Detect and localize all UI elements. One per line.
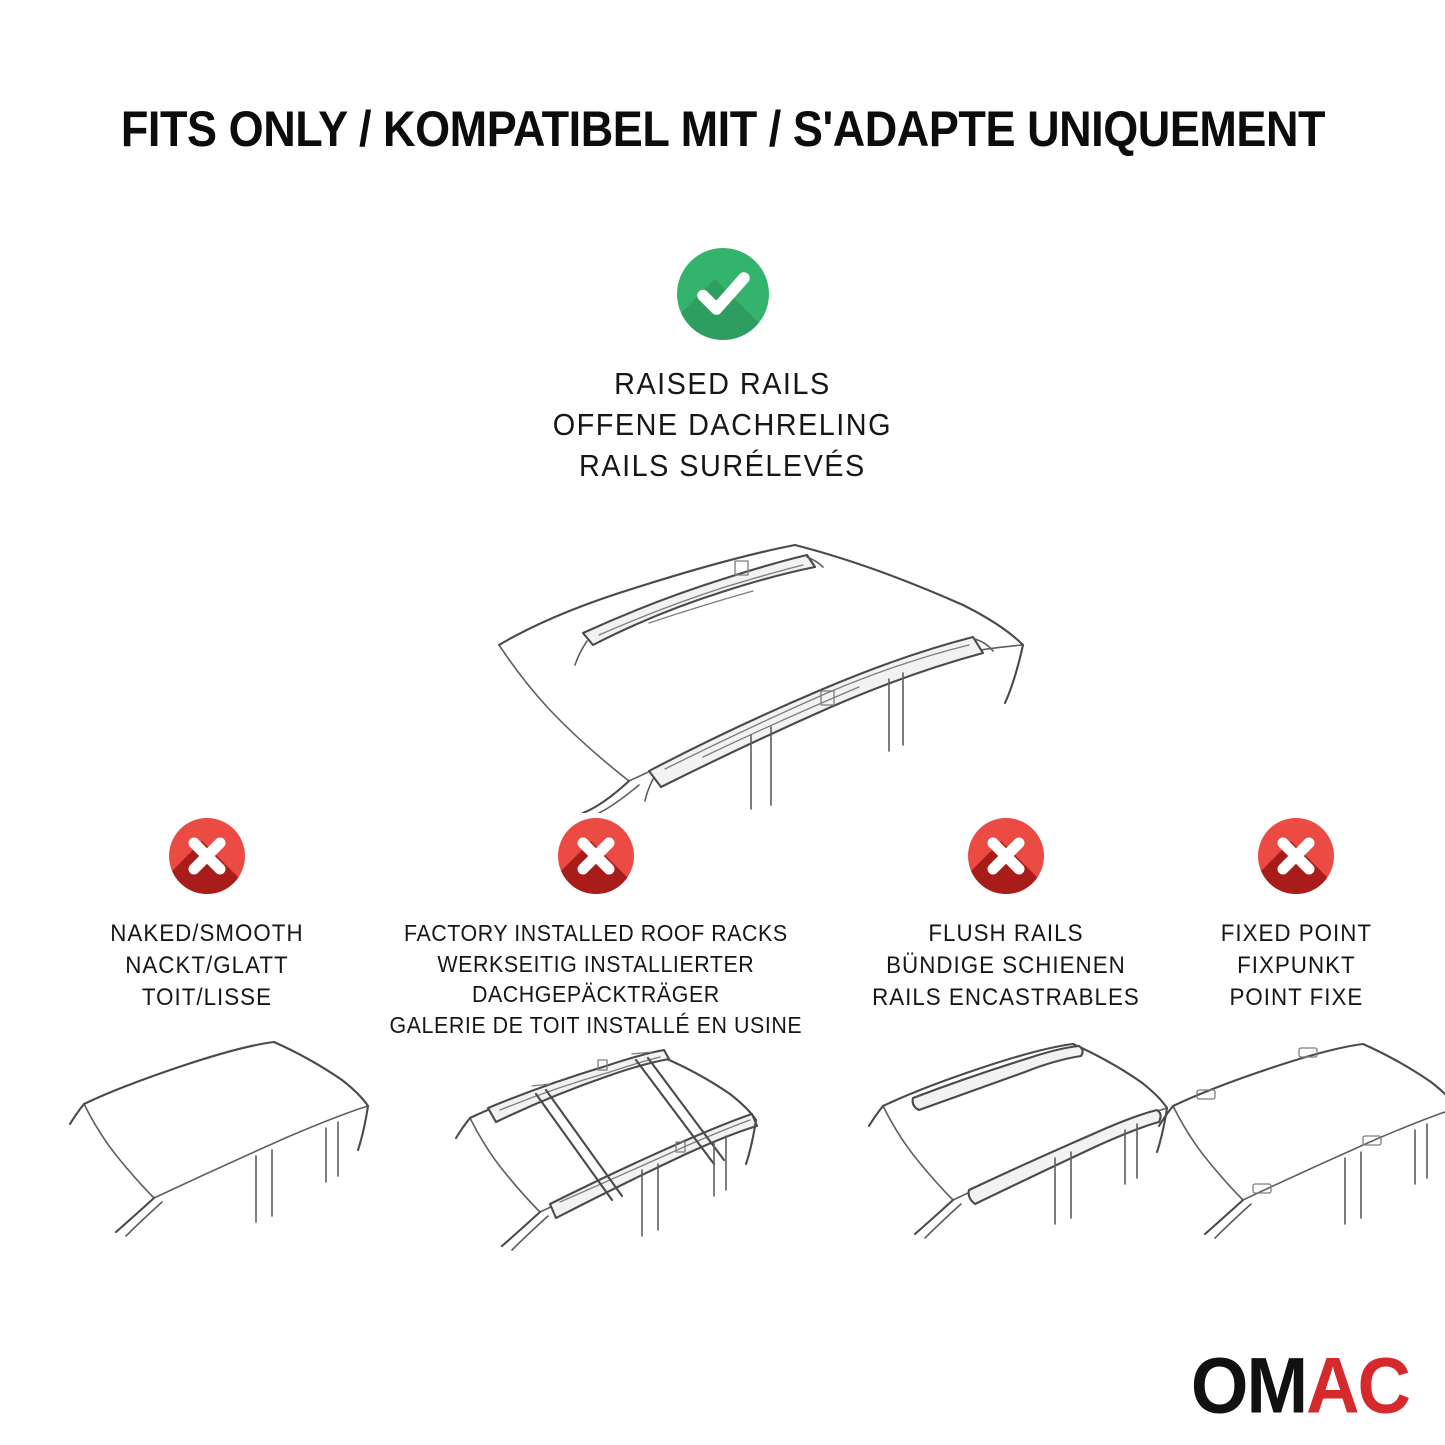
incompatible-label-en: FLUSH RAILS: [872, 918, 1140, 950]
incompatible-label-fr: TOIT/LISSE: [110, 982, 303, 1014]
incompatible-item-fixed-point: FIXED POINT FIXPUNKT POINT FIXE: [1156, 818, 1436, 1249]
check-circle-icon: [677, 248, 769, 340]
incompatible-label-en: FIXED POINT: [1220, 918, 1371, 950]
omac-logo: OM AC: [1191, 1349, 1409, 1423]
incompatible-section: NAKED/SMOOTH NACKT/GLATT TOIT/LISSE: [0, 818, 1445, 1418]
incompatible-labels: FLUSH RAILS BÜNDIGE SCHIENEN RAILS ENCAS…: [862, 918, 1150, 1014]
compatible-label-de: OFFENE DACHRELING: [553, 405, 892, 446]
compatible-section: RAISED RAILS OFFENE DACHRELING RAILS SUR…: [0, 248, 1445, 813]
car-roof-factory-roof-racks-illustration: [426, 1042, 766, 1272]
incompatible-label-fr: POINT FIXE: [1220, 982, 1371, 1014]
x-circle-icon: [169, 818, 245, 894]
car-roof-raised-rails-illustration: [403, 513, 1043, 813]
incompatible-labels: FIXED POINT FIXPUNKT POINT FIXE: [1215, 918, 1378, 1014]
incompatible-label-de: NACKT/GLATT: [110, 950, 303, 982]
incompatible-label-de-1: WERKSEITIG INSTALLIERTER: [389, 949, 802, 980]
incompatible-item-factory-roof-racks: FACTORY INSTALLED ROOF RACKS WERKSEITIG …: [368, 818, 823, 1272]
compatible-labels: RAISED RAILS OFFENE DACHRELING RAILS SUR…: [540, 364, 905, 487]
incompatible-label-de-2: DACHGEPÄCKTRÄGER: [389, 979, 802, 1010]
compatible-label-en: RAISED RAILS: [553, 364, 892, 405]
incompatible-item-flush-rails: FLUSH RAILS BÜNDIGE SCHIENEN RAILS ENCAS…: [836, 818, 1176, 1249]
x-circle-icon: [558, 818, 634, 894]
x-circle-icon: [1258, 818, 1334, 894]
car-roof-fixed-point-illustration: [1131, 1034, 1445, 1249]
compatible-label-fr: RAILS SURÉLEVÉS: [553, 446, 892, 487]
incompatible-labels: NAKED/SMOOTH NACKT/GLATT TOIT/LISSE: [103, 918, 311, 1014]
incompatible-item-naked-smooth: NAKED/SMOOTH NACKT/GLATT TOIT/LISSE: [47, 818, 367, 1247]
incompatible-label-de: BÜNDIGE SCHIENEN: [872, 950, 1140, 982]
page-title: FITS ONLY / KOMPATIBEL MIT / S'ADAPTE UN…: [0, 104, 1445, 154]
incompatible-label-en: FACTORY INSTALLED ROOF RACKS: [389, 918, 802, 949]
incompatible-labels: FACTORY INSTALLED ROOF RACKS WERKSEITIG …: [374, 918, 818, 1040]
car-roof-flush-rails-illustration: [841, 1034, 1171, 1249]
logo-text-ac: AC: [1306, 1347, 1409, 1425]
incompatible-label-fr: RAILS ENCASTRABLES: [872, 982, 1140, 1014]
incompatible-label-fr: GALERIE DE TOIT INSTALLÉ EN USINE: [389, 1010, 802, 1041]
car-roof-naked-smooth-illustration: [42, 1032, 372, 1247]
page-title-text: FITS ONLY / KOMPATIBEL MIT / S'ADAPTE UN…: [120, 104, 1324, 154]
incompatible-label-en: NAKED/SMOOTH: [110, 918, 303, 950]
x-circle-icon: [968, 818, 1044, 894]
logo-text-om: OM: [1191, 1347, 1306, 1425]
incompatible-label-de: FIXPUNKT: [1220, 950, 1371, 982]
